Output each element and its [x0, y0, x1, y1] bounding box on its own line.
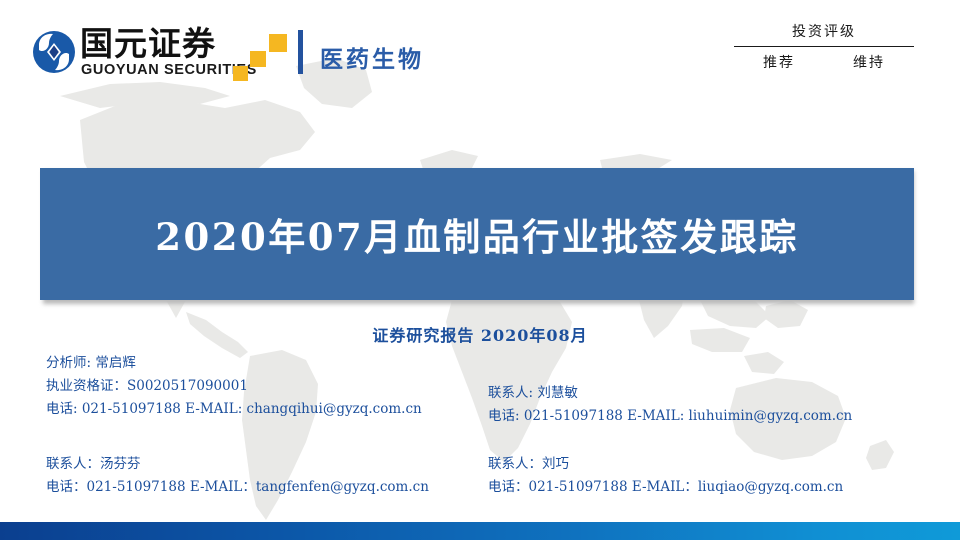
contact-role-line-tang: 联系人：汤芬芬 [46, 453, 141, 476]
page-header: 国元证券 GUOYUAN SECURITIES 医药生物 投资评级 推荐 维持 [0, 0, 960, 112]
contact-contact-line-tang: 电话：021-51097188 E-MAIL：tangfenfen@gyzq.c… [46, 476, 429, 499]
gold-square-2 [250, 51, 266, 67]
brand-name-en: GUOYUAN SECURITIES [81, 62, 257, 78]
brand-name-cn: 国元证券 [80, 26, 216, 62]
guoyuan-circle-diamond-logo-icon [31, 29, 77, 75]
gold-square-3 [269, 34, 287, 52]
rating-values-row: 推荐 维持 [734, 52, 914, 72]
contacts-block: 分析师: 常启辉 执业资格证：S0020517090001 电话: 021-51… [0, 352, 960, 512]
page-title: 2020年07月血制品行业批签发跟踪 [40, 168, 914, 300]
rating-action: 维持 [853, 52, 885, 72]
contact-role-line-liuqiao: 联系人：刘巧 [488, 453, 569, 476]
investment-rating-box: 投资评级 推荐 维持 [734, 22, 914, 72]
gold-square-1 [233, 66, 248, 81]
sector-label: 医药生物 [320, 40, 424, 74]
rating-title: 投资评级 [734, 22, 914, 42]
analyst-contact-line: 电话: 021-51097188 E-MAIL: changqihui@gyzq… [46, 398, 422, 421]
report-subtitle: 证券研究报告 2020年08月 [0, 322, 960, 346]
contact-contact-line-liuqiao: 电话：021-51097188 E-MAIL：liuqiao@gyzq.com.… [488, 476, 843, 499]
contact-role-line-liu: 联系人: 刘慧敏 [488, 382, 578, 405]
rating-divider [734, 46, 914, 47]
header-divider [298, 30, 303, 74]
footer-gradient-bar [0, 522, 960, 540]
analyst-role-line: 分析师: 常启辉 [46, 352, 136, 375]
title-banner: 2020年07月血制品行业批签发跟踪 [40, 168, 914, 300]
contact-contact-line-liu: 电话: 021-51097188 E-MAIL: liuhuimin@gyzq.… [488, 405, 852, 428]
rating-value: 推荐 [763, 52, 795, 72]
report-cover-page: 国元证券 GUOYUAN SECURITIES 医药生物 投资评级 推荐 维持 … [0, 0, 960, 540]
analyst-cert-line: 执业资格证：S0020517090001 [46, 375, 248, 398]
gold-squares-decoration [233, 34, 293, 84]
